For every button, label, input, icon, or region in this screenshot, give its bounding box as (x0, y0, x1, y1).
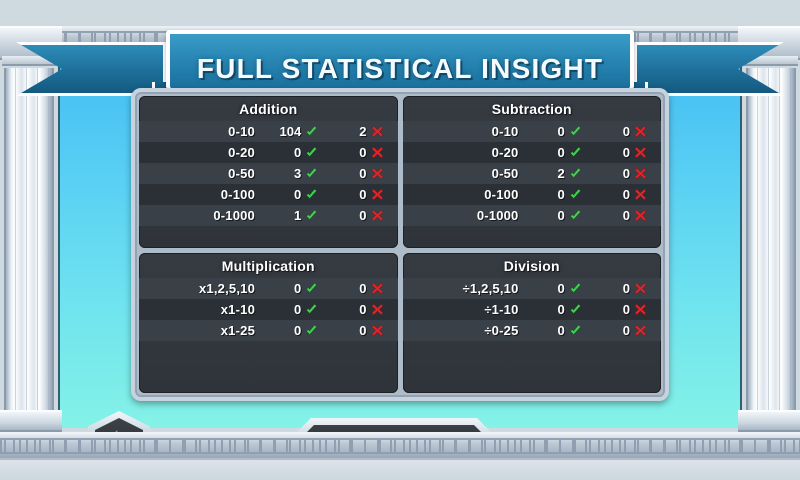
wrong-count: 0 (359, 323, 366, 338)
table-row: 0-1000 0 (403, 184, 662, 205)
wrong-cell: 0 (324, 187, 389, 202)
wrong-cell: 0 (324, 208, 389, 223)
wrong-count: 0 (623, 145, 630, 160)
wrong-count: 0 (623, 208, 630, 223)
bottom-ledge (0, 458, 800, 480)
correct-count: 104 (280, 124, 302, 139)
table-row: 0-502 0 (403, 163, 662, 184)
range-label: x1-25 (143, 323, 259, 338)
cross-icon (634, 188, 647, 201)
cross-icon (371, 324, 384, 337)
stats-panel-subtraction: Subtraction0-100 0 0-200 0 0-502 0 0-100… (403, 96, 662, 248)
check-icon (569, 188, 582, 201)
correct-cell: 0 (523, 124, 588, 139)
wrong-cell: 0 (588, 187, 653, 202)
range-label: ÷1-10 (407, 302, 523, 317)
correct-cell: 0 (523, 281, 588, 296)
correct-count: 2 (558, 166, 565, 181)
check-icon (569, 324, 582, 337)
range-label: 0-50 (407, 166, 523, 181)
correct-cell: 0 (523, 208, 588, 223)
wrong-count: 0 (359, 187, 366, 202)
check-icon (305, 188, 318, 201)
table-row: 0-10001 0 (139, 205, 398, 226)
range-label: 0-20 (407, 145, 523, 160)
cross-icon (634, 167, 647, 180)
correct-count: 0 (294, 281, 301, 296)
bottom-frieze-band (0, 432, 800, 460)
table-row: x1-250 0 (139, 320, 398, 341)
correct-cell: 0 (259, 187, 324, 202)
wrong-cell: 0 (588, 208, 653, 223)
correct-count: 0 (558, 281, 565, 296)
wrong-count: 0 (623, 281, 630, 296)
stats-row-list: ÷1,2,5,100 0 ÷1-100 0 ÷0-250 0 (403, 278, 662, 341)
wrong-cell: 0 (324, 281, 389, 296)
wrong-count: 0 (623, 166, 630, 181)
wrong-count: 0 (623, 323, 630, 338)
stats-panel-addition: Addition0-10104 2 0-200 0 0-503 0 0-1000… (139, 96, 398, 248)
range-label: 0-20 (143, 145, 259, 160)
correct-cell: 104 (259, 124, 324, 139)
statistics-frame: Addition0-10104 2 0-200 0 0-503 0 0-1000… (131, 88, 669, 401)
right-column-base (738, 410, 800, 432)
cross-icon (371, 146, 384, 159)
check-icon (569, 282, 582, 295)
page-title: FULL STATISTICAL INSIGHT (197, 53, 603, 85)
check-icon (569, 303, 582, 316)
wrong-cell: 0 (324, 145, 389, 160)
right-column-shaft (746, 68, 796, 410)
correct-cell: 0 (523, 187, 588, 202)
range-label: 0-100 (143, 187, 259, 202)
wrong-count: 0 (623, 124, 630, 139)
wrong-cell: 0 (324, 323, 389, 338)
range-label: 0-100 (407, 187, 523, 202)
check-icon (569, 146, 582, 159)
range-label: x1,2,5,10 (143, 281, 259, 296)
greek-key-pattern-bottom (0, 438, 800, 454)
cross-icon (634, 146, 647, 159)
table-row: ÷1-100 0 (403, 299, 662, 320)
check-icon (569, 167, 582, 180)
wrong-count: 0 (359, 145, 366, 160)
correct-count: 3 (294, 166, 301, 181)
stats-row-list: 0-100 0 0-200 0 0-502 0 0-1000 0 0-10000… (403, 121, 662, 226)
correct-count: 0 (558, 208, 565, 223)
correct-count: 0 (558, 187, 565, 202)
stats-row-list: x1,2,5,100 0 x1-100 0 x1-250 0 (139, 278, 398, 341)
cross-icon (371, 167, 384, 180)
check-icon (305, 209, 318, 222)
wrong-cell: 0 (588, 166, 653, 181)
wrong-count: 0 (359, 208, 366, 223)
range-label: ÷0-25 (407, 323, 523, 338)
range-label: x1-10 (143, 302, 259, 317)
correct-cell: 2 (523, 166, 588, 181)
wrong-cell: 2 (324, 124, 389, 139)
cross-icon (371, 282, 384, 295)
correct-cell: 1 (259, 208, 324, 223)
table-row: x1,2,5,100 0 (139, 278, 398, 299)
stats-panel-division: Division÷1,2,5,100 0 ÷1-100 0 ÷0-250 0 (403, 253, 662, 393)
wrong-cell: 0 (588, 124, 653, 139)
range-label: 0-10 (407, 124, 523, 139)
check-icon (305, 324, 318, 337)
correct-count: 0 (558, 145, 565, 160)
wrong-count: 0 (359, 166, 366, 181)
correct-cell: 0 (523, 145, 588, 160)
table-row: 0-10000 0 (403, 205, 662, 226)
correct-count: 0 (294, 145, 301, 160)
correct-count: 0 (558, 323, 565, 338)
correct-count: 1 (294, 208, 301, 223)
wrong-cell: 0 (588, 323, 653, 338)
cross-icon (634, 209, 647, 222)
table-row: x1-100 0 (139, 299, 398, 320)
game-screen: FULL STATISTICAL INSIGHT Addition0-10104… (0, 0, 800, 480)
correct-cell: 0 (523, 323, 588, 338)
wrong-cell: 0 (588, 302, 653, 317)
correct-cell: 0 (259, 281, 324, 296)
wrong-count: 0 (359, 281, 366, 296)
correct-cell: 0 (259, 145, 324, 160)
table-row: 0-200 0 (139, 142, 398, 163)
cross-icon (634, 324, 647, 337)
wrong-count: 2 (359, 124, 366, 139)
table-row: ÷0-250 0 (403, 320, 662, 341)
panel-title: Addition (139, 96, 398, 121)
panel-title: Subtraction (403, 96, 662, 121)
left-column-base (0, 410, 62, 432)
correct-cell: 3 (259, 166, 324, 181)
check-icon (305, 125, 318, 138)
range-label: ÷1,2,5,10 (407, 281, 523, 296)
wrong-cell: 0 (324, 302, 389, 317)
cross-icon (634, 282, 647, 295)
correct-count: 0 (294, 323, 301, 338)
wrong-count: 0 (623, 302, 630, 317)
cross-icon (371, 303, 384, 316)
wrong-cell: 0 (324, 166, 389, 181)
table-row: 0-200 0 (403, 142, 662, 163)
correct-cell: 0 (259, 323, 324, 338)
table-row: 0-1000 0 (139, 184, 398, 205)
panel-title: Division (403, 253, 662, 278)
range-label: 0-1000 (407, 208, 523, 223)
cross-icon (371, 125, 384, 138)
wrong-cell: 0 (588, 145, 653, 160)
correct-count: 0 (558, 124, 565, 139)
cross-icon (371, 209, 384, 222)
check-icon (305, 282, 318, 295)
wrong-cell: 0 (588, 281, 653, 296)
cross-icon (634, 303, 647, 316)
stats-panel-multiplication: Multiplicationx1,2,5,100 0 x1-100 0 x1-2… (139, 253, 398, 393)
check-icon (305, 146, 318, 159)
table-row: ÷1,2,5,100 0 (403, 278, 662, 299)
range-label: 0-10 (143, 124, 259, 139)
check-icon (569, 209, 582, 222)
check-icon (305, 167, 318, 180)
range-label: 0-1000 (143, 208, 259, 223)
correct-cell: 0 (523, 302, 588, 317)
wrong-count: 0 (623, 187, 630, 202)
table-row: 0-10104 2 (139, 121, 398, 142)
correct-count: 0 (558, 302, 565, 317)
cross-icon (371, 188, 384, 201)
correct-count: 0 (294, 187, 301, 202)
panel-title: Multiplication (139, 253, 398, 278)
range-label: 0-50 (143, 166, 259, 181)
check-icon (305, 303, 318, 316)
cross-icon (634, 125, 647, 138)
table-row: 0-503 0 (139, 163, 398, 184)
correct-count: 0 (294, 302, 301, 317)
check-icon (569, 125, 582, 138)
left-column-shaft (4, 68, 54, 410)
table-row: 0-100 0 (403, 121, 662, 142)
stats-row-list: 0-10104 2 0-200 0 0-503 0 0-1000 0 0-100… (139, 121, 398, 226)
correct-cell: 0 (259, 302, 324, 317)
wrong-count: 0 (359, 302, 366, 317)
